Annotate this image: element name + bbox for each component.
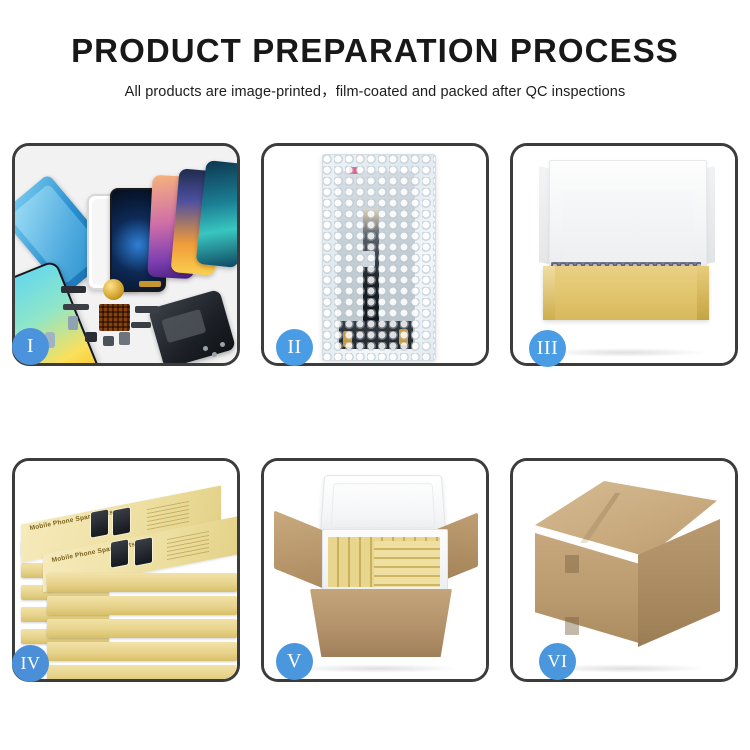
flex-cable-2 — [135, 306, 159, 313]
page-title: PRODUCT PREPARATION PROCESS — [0, 34, 750, 67]
process-step-grid: I II — [12, 143, 738, 682]
mailer-lip-left — [543, 266, 555, 320]
page-subtitle: All products are image-printed，film-coat… — [0, 80, 750, 101]
phone-midframe-dark — [148, 289, 236, 363]
screw-3 — [220, 342, 225, 347]
battery-part — [61, 286, 86, 293]
box-front-2 — [47, 596, 237, 615]
product-preparation-infographic: PRODUCT PREPARATION PROCESS All products… — [0, 0, 750, 750]
box-print-screenshot-1a — [91, 509, 108, 537]
step-badge-1: I — [12, 328, 49, 365]
step-4-image: Mobile Phone Spare Parts Mobile Phone Sp… — [15, 461, 237, 679]
process-step-1[interactable]: I — [12, 143, 240, 366]
process-step-6[interactable]: VI — [510, 458, 738, 682]
step-badge-6: VI — [539, 643, 576, 680]
speaker-part-icon — [103, 279, 124, 300]
sim-tray-part — [119, 332, 130, 345]
box-print-screenshot-2a — [111, 539, 128, 567]
step-1-image — [15, 146, 237, 363]
mailer-lip-right — [697, 266, 709, 320]
box-stack: Mobile Phone Spare Parts Mobile Phone Sp… — [17, 479, 237, 669]
box-front-5 — [47, 665, 237, 679]
mailer-foam-lid — [549, 160, 707, 278]
bracket-part — [103, 336, 114, 346]
bubble-wrap-bag — [322, 154, 436, 361]
step-badge-5: V — [276, 643, 313, 680]
phones-parts-scene — [15, 146, 237, 363]
camera-part — [68, 316, 78, 330]
process-step-5[interactable]: V — [261, 458, 489, 682]
drop-shadow — [294, 664, 459, 673]
lcd-gold-contact-left — [343, 331, 352, 347]
process-step-2[interactable]: II — [261, 143, 489, 366]
screw-1 — [203, 346, 208, 351]
stacked-boxes-scene: Mobile Phone Spare Parts Mobile Phone Sp… — [15, 461, 237, 679]
step-badge-2: II — [276, 329, 313, 366]
step-badge-4: IV — [12, 645, 49, 682]
process-step-3[interactable]: III — [510, 143, 738, 366]
box-print-screenshot-1b — [113, 507, 130, 535]
carton-tab-upper — [565, 555, 579, 573]
pink-label-tag — [349, 167, 358, 174]
flex-cable-gold — [139, 281, 161, 287]
box-front-4 — [47, 642, 237, 661]
lcd-flex-cable — [363, 209, 379, 327]
carton-flap-left — [274, 510, 326, 589]
small-chip-part — [85, 332, 97, 342]
drop-shadow — [543, 348, 708, 357]
step-badge-3: III — [529, 330, 566, 367]
carton-tab-lower — [565, 617, 579, 635]
process-step-4[interactable]: Mobile Phone Spare Parts Mobile Phone Sp… — [12, 458, 240, 682]
screw-2 — [212, 352, 217, 357]
flex-cable-3 — [131, 322, 151, 328]
box-front-1 — [47, 573, 237, 592]
box-front-3 — [47, 619, 237, 638]
carton-front-panel — [310, 589, 452, 657]
connector-grid-part — [99, 304, 130, 331]
gold-boxes-row-2 — [374, 541, 440, 587]
header: PRODUCT PREPARATION PROCESS All products… — [0, 0, 750, 101]
lcd-gold-contact-right — [399, 329, 408, 345]
lcd-connector — [361, 251, 375, 267]
flex-cable-1 — [63, 304, 89, 310]
box-print-screenshot-2b — [135, 537, 152, 565]
mailer-box-body — [543, 266, 709, 320]
foam-lid — [320, 475, 447, 537]
